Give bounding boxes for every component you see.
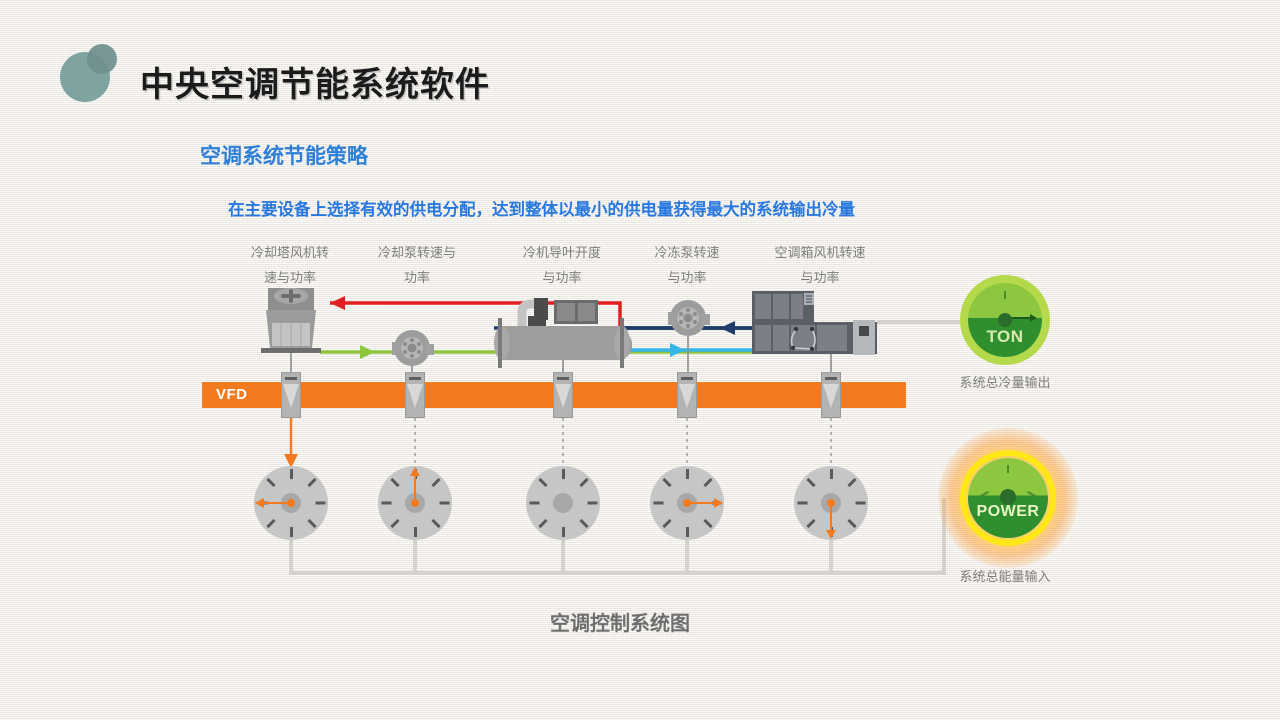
drive-funnel bbox=[407, 384, 423, 408]
gauge-ahu[interactable] bbox=[794, 466, 868, 540]
condenser-return-pipe bbox=[330, 303, 620, 330]
ton-badge-text: TON bbox=[968, 327, 1042, 347]
gauge-tick bbox=[654, 502, 664, 505]
drive-slot bbox=[557, 377, 569, 380]
gauge-tick bbox=[686, 469, 689, 479]
chilled-water-pump-icon bbox=[668, 300, 710, 374]
drive-slot bbox=[681, 377, 693, 380]
ton-tick bbox=[1004, 291, 1006, 299]
gauge-tick bbox=[686, 527, 689, 537]
gauge-needle bbox=[830, 503, 832, 531]
vfd-drive-chiller[interactable] bbox=[553, 372, 573, 418]
vfd-drive-ahu[interactable] bbox=[821, 372, 841, 418]
power-tick bbox=[1007, 465, 1009, 473]
equipment-caption-cooling-tower: 冷却塔风机转 速与功率 bbox=[228, 240, 352, 290]
gauge-tick bbox=[856, 502, 866, 505]
ton-output-badge[interactable]: TON bbox=[968, 283, 1042, 357]
ton-hub bbox=[998, 313, 1012, 327]
gauge-tick bbox=[290, 469, 293, 479]
power-tick bbox=[980, 491, 989, 497]
chilled-return-arrow bbox=[720, 321, 735, 335]
slide-canvas: 中央空调节能系统软件 空调系统节能策略 在主要设备上选择有效的供电分配，达到整体… bbox=[0, 0, 1280, 720]
drive-to-gauge-links bbox=[415, 418, 831, 466]
logo-circle-small bbox=[87, 44, 117, 74]
drive-funnel bbox=[283, 384, 299, 408]
drive-funnel bbox=[823, 384, 839, 408]
drive-slot bbox=[825, 377, 837, 380]
equipment-caption-chilled-pump: 冷冻泵转速 与功率 bbox=[625, 240, 749, 290]
section-statement: 在主要设备上选择有效的供电分配，达到整体以最小的供电量获得最大的系统输出冷量 bbox=[228, 196, 855, 220]
gauge-tick bbox=[798, 502, 808, 505]
gauge-hub bbox=[553, 493, 573, 513]
chilled-supply-arrow bbox=[670, 343, 685, 357]
drive-funnel bbox=[679, 384, 695, 408]
gauge-pin bbox=[411, 499, 419, 507]
gauge-tick bbox=[830, 469, 833, 479]
drive-slot bbox=[409, 377, 421, 380]
power-caption: 系统总能量输入 bbox=[905, 566, 1105, 585]
gauge-pin bbox=[683, 499, 691, 507]
equipment-caption-cooling-pump: 冷却泵转速与 功率 bbox=[355, 240, 479, 290]
drive-funnel bbox=[555, 384, 571, 408]
power-input-badge[interactable]: POWER bbox=[968, 458, 1048, 538]
equipment-caption-ahu: 空调箱风机转速 与功率 bbox=[758, 240, 882, 290]
gauge-tick bbox=[530, 502, 540, 505]
gauge-tick bbox=[414, 527, 417, 537]
gauge-pin bbox=[287, 499, 295, 507]
vfd-label: VFD bbox=[216, 386, 248, 403]
drive-slot bbox=[285, 377, 297, 380]
section-heading: 空调系统节能策略 bbox=[200, 140, 368, 170]
gauge-tick bbox=[316, 502, 326, 505]
gauge-tick bbox=[440, 502, 450, 505]
gauge-needle bbox=[687, 502, 715, 504]
gauge-tick bbox=[562, 469, 565, 479]
gauge-cooling-pump[interactable] bbox=[378, 466, 452, 540]
gauge-tick bbox=[290, 527, 293, 537]
cooling-pump-icon bbox=[392, 330, 434, 374]
condenser-supply-arrow bbox=[360, 345, 375, 359]
vfd-drive-cooling-pump[interactable] bbox=[405, 372, 425, 418]
condenser-return-arrow bbox=[330, 296, 345, 310]
gauge-cooling-tower[interactable] bbox=[254, 466, 328, 540]
gauge-chilled-pump[interactable] bbox=[650, 466, 724, 540]
gauge-chiller[interactable] bbox=[526, 466, 600, 540]
gauge-tick bbox=[588, 502, 598, 505]
power-tick bbox=[1027, 491, 1036, 497]
power-dial: POWER bbox=[968, 458, 1048, 538]
logo bbox=[60, 42, 122, 104]
power-badge-text: POWER bbox=[968, 503, 1048, 521]
diagram-caption: 空调控制系统图 bbox=[0, 607, 1240, 636]
vfd-drive-cooling-tower[interactable] bbox=[281, 372, 301, 418]
page-title: 中央空调节能系统软件 bbox=[140, 57, 490, 106]
ton-dial: TON bbox=[968, 283, 1042, 357]
equipment-caption-chiller: 冷机导叶开度 与功率 bbox=[500, 240, 624, 290]
gauge-tick bbox=[382, 502, 392, 505]
gauge-pin bbox=[827, 499, 835, 507]
ton-caption: 系统总冷量输出 bbox=[905, 372, 1105, 391]
cooling-tower-icon bbox=[261, 288, 321, 374]
vfd-drive-chilled-pump[interactable] bbox=[677, 372, 697, 418]
gauge-tick bbox=[562, 527, 565, 537]
chiller-icon bbox=[494, 298, 632, 374]
air-handling-unit-icon bbox=[752, 291, 877, 374]
